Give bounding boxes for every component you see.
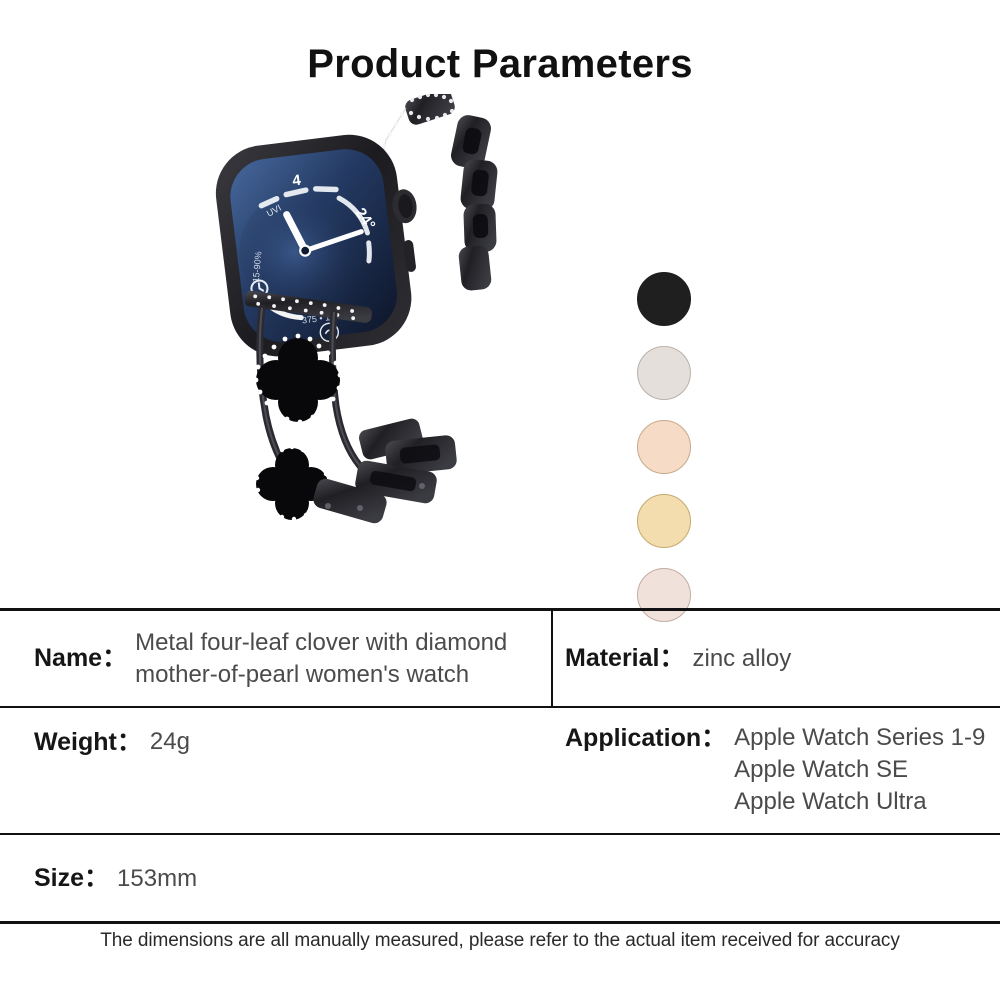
weight-label: Weight： (34, 726, 142, 759)
application-label: Application： (565, 722, 726, 755)
spec-cell-size: Size： 153mm (0, 835, 1000, 921)
name-value-line2: mother-of-pearl women's watch (135, 659, 507, 691)
measurement-disclaimer: The dimensions are all manually measured… (0, 930, 1000, 952)
material-value: zinc alloy (684, 643, 791, 675)
weight-value: 24g (142, 726, 190, 758)
spec-cell-material: Material： zinc alloy (553, 611, 1000, 706)
material-label: Material： (565, 642, 684, 675)
application-value-line1: Apple Watch Series 1-9 (734, 722, 985, 754)
spec-row-name: Name： Metal four-leaf clover with diamon… (0, 611, 1000, 708)
name-value-line1: Metal four-leaf clover with diamond (135, 627, 507, 659)
size-label: Size： (34, 862, 109, 895)
spec-cell-name: Name： Metal four-leaf clover with diamon… (0, 611, 553, 706)
color-swatch-list (637, 272, 691, 622)
spec-table: Name： Metal four-leaf clover with diamon… (0, 608, 1000, 924)
product-image: UVI 4 24° 15-90% (210, 94, 530, 564)
name-value: Metal four-leaf clover with diamond moth… (127, 627, 507, 690)
spec-cell-application: Application： Apple Watch Series 1-9 Appl… (553, 708, 1000, 833)
application-value: Apple Watch Series 1-9 Apple Watch SE Ap… (726, 722, 985, 817)
color-swatch-silver-white[interactable] (637, 346, 691, 400)
clasp (311, 417, 457, 525)
name-label: Name： (34, 642, 127, 675)
product-hero: UVI 4 24° 15-90% (0, 84, 1000, 584)
application-value-line2: Apple Watch SE (734, 754, 985, 786)
color-swatch-black[interactable] (637, 272, 691, 326)
spec-cell-weight: Weight： 24g (0, 708, 553, 833)
spec-row-weight: Weight： 24g Application： Apple Watch Ser… (0, 708, 1000, 835)
page-title: Product Parameters (0, 0, 1000, 84)
color-swatch-gold[interactable] (637, 494, 691, 548)
spec-row-size: Size： 153mm (0, 835, 1000, 921)
size-value: 153mm (109, 863, 197, 895)
watch-case: UVI 4 24° 15-90% (210, 127, 432, 362)
application-value-line3: Apple Watch Ultra (734, 786, 985, 818)
color-swatch-rose-gold[interactable] (637, 420, 691, 474)
